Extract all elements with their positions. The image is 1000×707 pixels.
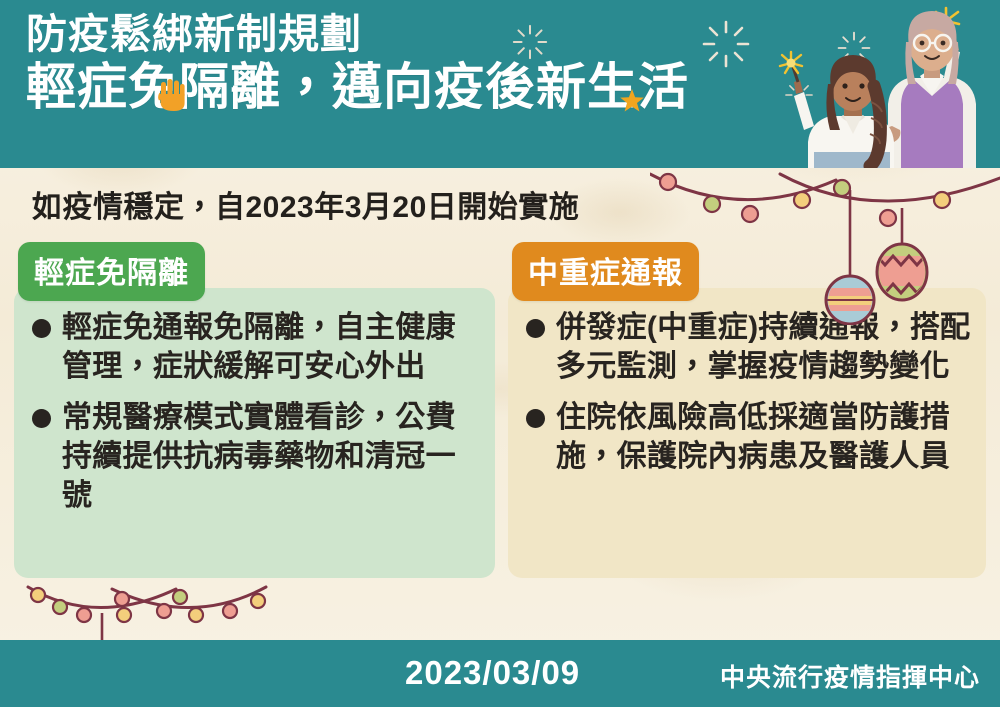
bullet-list-mild-cases: 輕症免通報免隔離，自主健康管理，症狀緩解可安心外出 常規醫療模式實體看診，公費持…	[30, 308, 482, 527]
badge-severe-cases: 中重症通報	[512, 242, 699, 301]
footer-band: 2023/03/09 中央流行疫情指揮中心	[0, 640, 1000, 707]
bullet-text: 住院依風險高低採適當防護措施，保護院內病患及醫護人員	[556, 401, 950, 473]
list-item: 住院依風險高低採適當防護措施，保護院內病患及醫護人員	[524, 398, 974, 476]
header-band: 防疫鬆綁新制規劃 輕症免隔離，邁向疫後新生活	[0, 0, 1000, 168]
poster-title: 防疫鬆綁新制規劃 輕症免隔離，邁向疫後新生活	[26, 12, 826, 114]
footer-date: 2023/03/09	[405, 654, 580, 692]
footer-organization: 中央流行疫情指揮中心	[720, 658, 980, 694]
bullet-dot-icon	[32, 409, 51, 428]
title-line-1: 防疫鬆綁新制規劃	[26, 12, 826, 56]
people-with-sparklers-illustration	[770, 0, 1000, 168]
bullet-dot-icon	[32, 319, 51, 338]
bullet-text: 常規醫療模式實體看診，公費持續提供抗病毒藥物和清冠一號	[62, 401, 456, 512]
infographic-poster: 防疫鬆綁新制規劃 輕症免隔離，邁向疫後新生活	[0, 0, 1000, 707]
subtitle-text: 如疫情穩定，自2023年3月20日開始實施	[32, 182, 579, 226]
badge-mild-cases: 輕症免隔離	[18, 242, 205, 301]
title-line-2: 輕症免隔離，邁向疫後新生活	[26, 60, 826, 114]
bullet-dot-icon	[526, 319, 545, 338]
bullet-text: 輕症免通報免隔離，自主健康管理，症狀緩解可安心外出	[62, 311, 456, 383]
bullet-list-severe-cases: 併發症(中重症)持續通報，搭配多元監測，掌握疫情趨勢變化 住院依風險高低採適當防…	[524, 308, 974, 488]
list-item: 常規醫療模式實體看診，公費持續提供抗病毒藥物和清冠一號	[30, 398, 482, 515]
bullet-text: 併發症(中重症)持續通報，搭配多元監測，掌握疫情趨勢變化	[556, 311, 970, 383]
bullet-dot-icon	[526, 409, 545, 428]
list-item: 輕症免通報免隔離，自主健康管理，症狀緩解可安心外出	[30, 308, 482, 386]
list-item: 併發症(中重症)持續通報，搭配多元監測，掌握疫情趨勢變化	[524, 308, 974, 386]
